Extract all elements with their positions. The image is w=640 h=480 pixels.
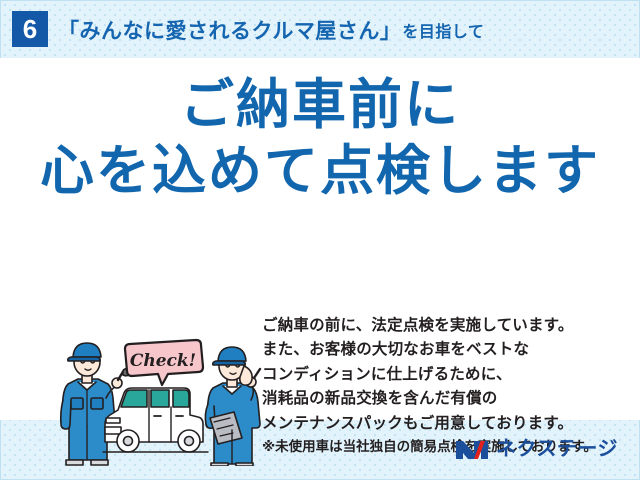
check-bubble-label: Check! xyxy=(130,351,196,371)
mechanic-right-figure xyxy=(205,347,260,466)
slide-root: 6 「みんなに愛されるクルマ屋さん」 を目指して ご納車前に 心を込めて点検しま… xyxy=(0,0,640,480)
body-line-2: また、お客様の大切なお車をベストな xyxy=(262,338,622,362)
section-number-badge: 6 xyxy=(12,11,48,47)
headline-line-2: 心を込めて点検します xyxy=(0,142,640,200)
header-title-quoted: 「みんなに愛されるクルマ屋さん」 xyxy=(58,15,401,45)
page-title: 「みんなに愛されるクルマ屋さん」 を目指して xyxy=(58,12,484,48)
header-title-tail: を目指して xyxy=(401,18,484,42)
body-line-5: メンテナンスパックもご用意しております。 xyxy=(262,412,622,436)
headline-block: ご納車前に 心を込めて点検します xyxy=(0,76,640,201)
body-line-4: 消耗品の新品交換を含んだ有償の xyxy=(262,387,622,411)
content-card: ご納車前に 心を込めて点検します xyxy=(0,58,640,420)
body-line-1: ご納車の前に、法定点検を実施しています。 xyxy=(262,314,622,338)
brand-logo: ネクステージ xyxy=(455,434,618,464)
van-illustration xyxy=(103,388,208,452)
slide-header: 6 「みんなに愛されるクルマ屋さん」 を目指して xyxy=(0,0,640,58)
body-line-3: コンディションに仕上げるために、 xyxy=(262,363,622,387)
mechanics-illustration: Check! xyxy=(58,326,263,466)
headline-line-1: ご納車前に xyxy=(180,75,460,135)
nextage-n-mark-icon xyxy=(455,437,489,461)
brand-name: ネクステージ xyxy=(496,437,618,461)
